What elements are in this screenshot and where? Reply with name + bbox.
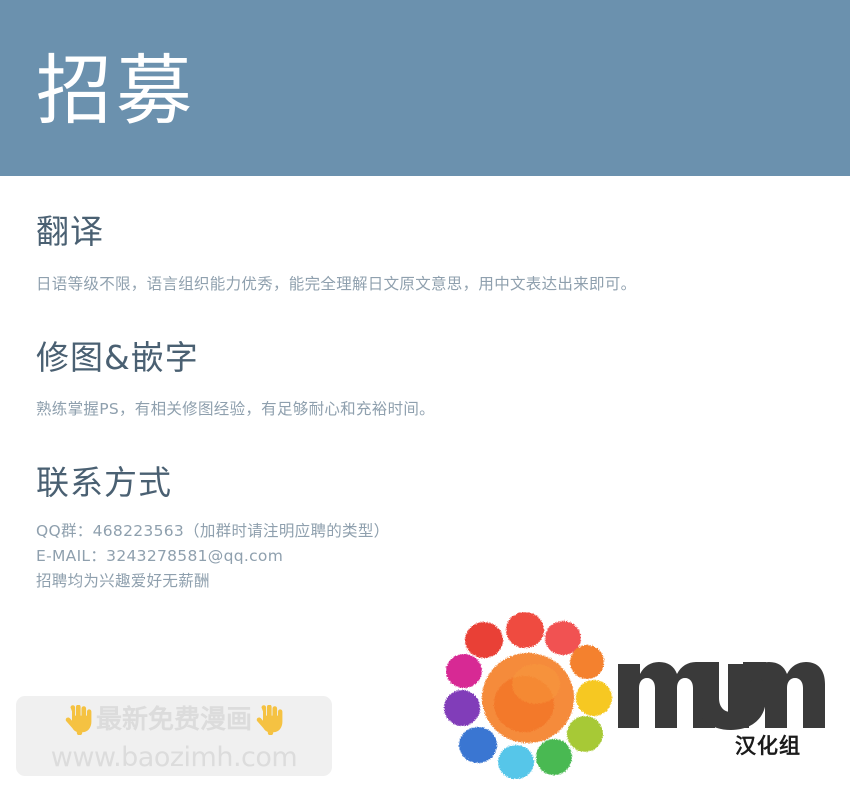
- pointing-down-hand-icon: [256, 705, 283, 735]
- content-area: 翻译 日语等级不限，语言组织能力优秀，能完全理解日文原文意思，用中文表达出来即可…: [0, 176, 850, 594]
- watercolor-rainbow-dots-icon: [440, 612, 625, 782]
- contact-line-note: 招聘均为兴趣爱好无薪酬: [36, 569, 814, 594]
- section-contact: 联系方式 QQ群：468223563（加群时请注明应聘的类型） E-MAIL：3…: [36, 421, 814, 595]
- section-contact-heading: 联系方式: [36, 465, 814, 501]
- section-translate-heading: 翻译: [36, 214, 814, 250]
- watermark-url: www.baozimh.com: [51, 744, 297, 771]
- section-retouch-heading: 修图&嵌字: [36, 340, 814, 376]
- section-retouch-body: 熟练掌握PS，有相关修图经验，有足够耐心和充裕时间。: [36, 397, 814, 421]
- watermark-promo-text: 最新免费漫画: [96, 707, 252, 733]
- contact-line-email: E-MAIL：3243278581@qq.com: [36, 544, 814, 569]
- contact-line-qq: QQ群：468223563（加群时请注明应聘的类型）: [36, 519, 814, 544]
- contact-lines: QQ群：468223563（加群时请注明应聘的类型） E-MAIL：324327…: [36, 519, 814, 594]
- watermark-promo-row: 最新免费漫画: [65, 702, 283, 738]
- logo-subtitle: 汉化组: [735, 736, 801, 757]
- pointing-down-hand-icon: [65, 705, 92, 735]
- page-header: 招募: [0, 0, 850, 176]
- site-watermark-banner[interactable]: 最新免费漫画 www.baozimh.com: [16, 696, 332, 776]
- group-logo: 汉化组: [440, 612, 840, 792]
- logo-wordmark: [616, 656, 828, 732]
- section-translate: 翻译 日语等级不限，语言组织能力优秀，能完全理解日文原文意思，用中文表达出来即可…: [36, 176, 814, 296]
- section-translate-body: 日语等级不限，语言组织能力优秀，能完全理解日文原文意思，用中文表达出来即可。: [36, 272, 814, 296]
- section-retouch: 修图&嵌字 熟练掌握PS，有相关修图经验，有足够耐心和充裕时间。: [36, 296, 814, 420]
- page-title: 招募: [36, 53, 196, 129]
